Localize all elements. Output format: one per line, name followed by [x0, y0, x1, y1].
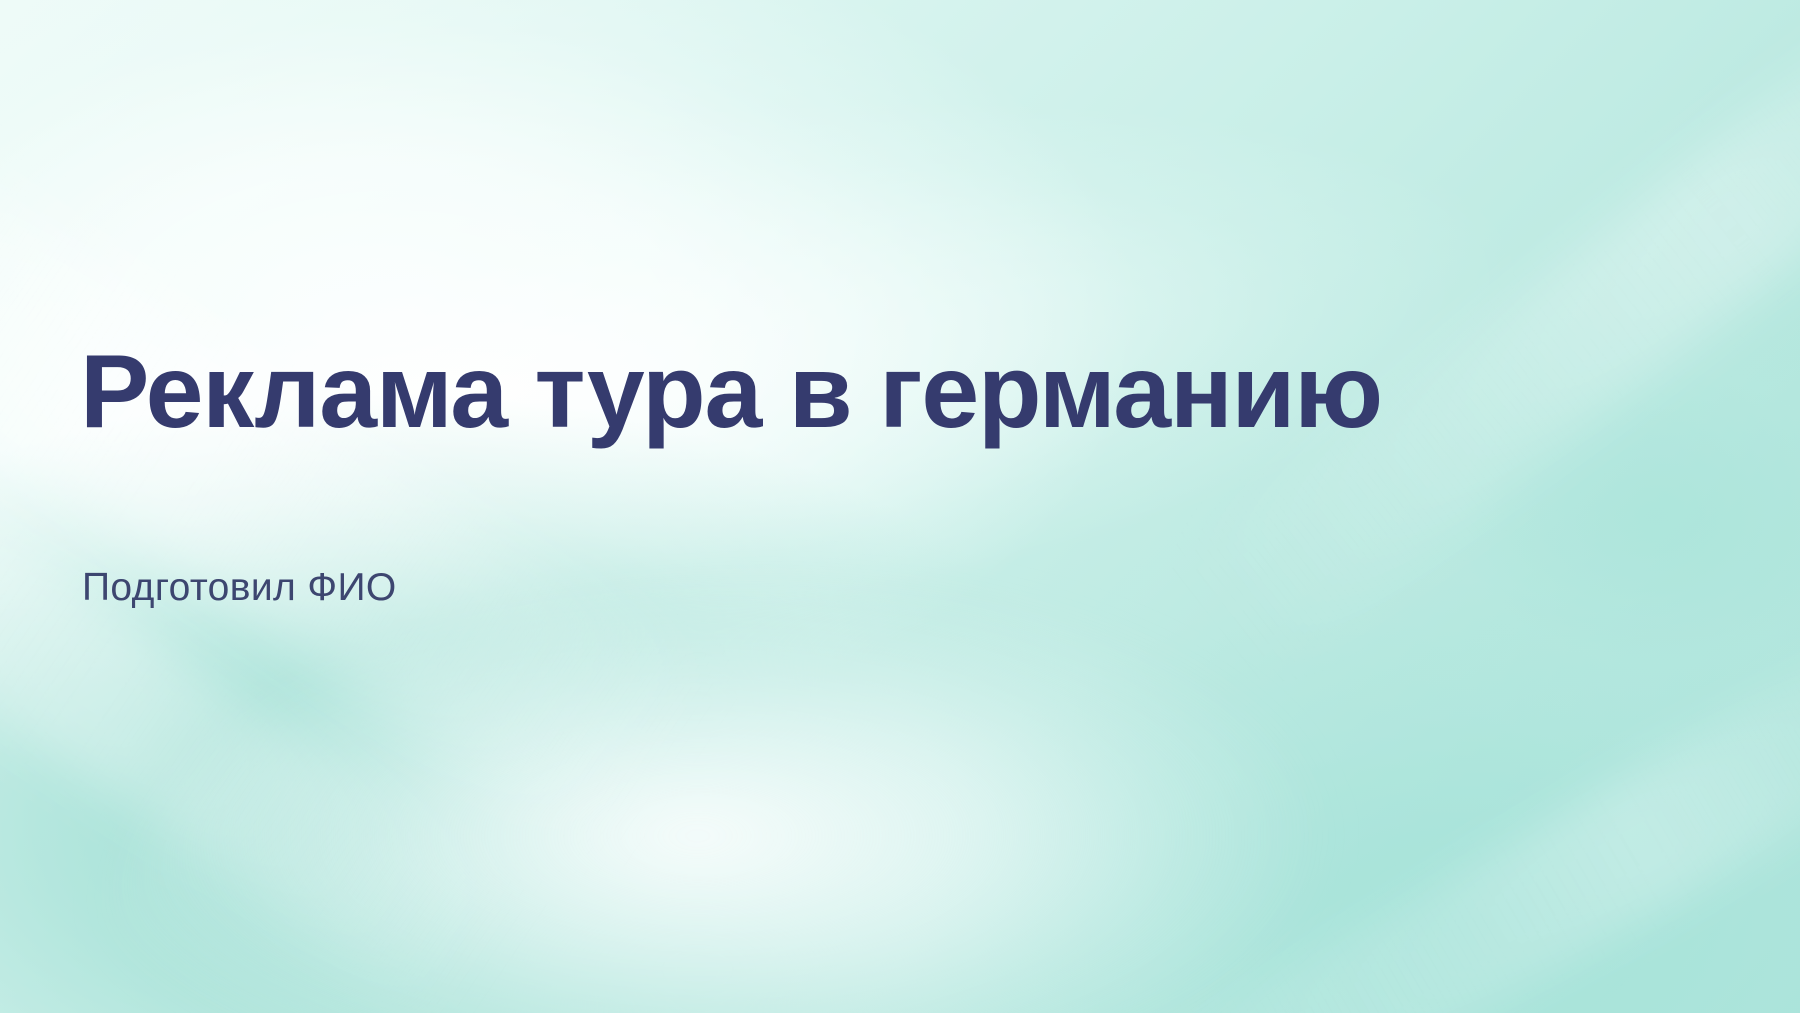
slide-title: Реклама тура в германию [80, 336, 1740, 448]
presentation-title-slide: Реклама тура в германию Подготовил ФИО [0, 0, 1800, 1013]
slide-subtitle: Подготовил ФИО [82, 565, 397, 612]
slide-content: Реклама тура в германию Подготовил ФИО [80, 0, 1740, 1013]
